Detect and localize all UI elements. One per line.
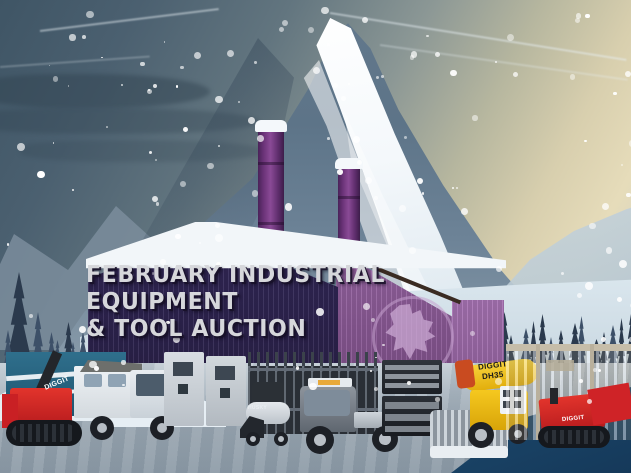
snowflake bbox=[435, 397, 440, 402]
snowflake bbox=[86, 11, 94, 19]
snowflake bbox=[461, 208, 468, 215]
snowflake bbox=[407, 381, 411, 385]
snowflake bbox=[183, 127, 188, 132]
snowflake bbox=[176, 85, 179, 88]
snowflake bbox=[587, 399, 592, 404]
snowflake bbox=[589, 223, 595, 229]
title-line-2: EQUIPMENT bbox=[86, 289, 385, 316]
snowflake bbox=[411, 51, 417, 57]
snowflake bbox=[601, 337, 606, 342]
snowflake bbox=[199, 242, 201, 244]
snowflake bbox=[579, 379, 583, 383]
snowflake bbox=[470, 331, 475, 336]
snowflake bbox=[576, 13, 581, 18]
snowflake bbox=[353, 136, 360, 143]
snowfall-overlay bbox=[0, 0, 631, 473]
snowflake bbox=[399, 205, 405, 211]
snowflake bbox=[593, 368, 597, 372]
snowflake bbox=[149, 151, 152, 154]
snowflake bbox=[450, 70, 456, 76]
snowflake bbox=[584, 140, 586, 142]
snowflake bbox=[215, 223, 220, 228]
snowflake bbox=[417, 178, 423, 184]
snowflake bbox=[357, 160, 362, 165]
snowflake bbox=[613, 92, 617, 96]
snowflake bbox=[472, 115, 477, 120]
snowflake bbox=[337, 169, 343, 175]
snowflake bbox=[496, 266, 502, 272]
snowflake bbox=[426, 35, 429, 38]
snowflake bbox=[153, 84, 157, 88]
snowflake bbox=[561, 272, 565, 276]
snowflake bbox=[180, 66, 184, 70]
snowflake bbox=[585, 282, 593, 290]
snowflake bbox=[625, 71, 631, 77]
snowflake bbox=[621, 164, 623, 166]
snowflake bbox=[456, 187, 458, 189]
snowflake bbox=[49, 65, 51, 67]
snowflake bbox=[575, 18, 580, 23]
snowflake bbox=[69, 34, 75, 40]
snowflake bbox=[279, 27, 284, 32]
snowflake bbox=[375, 357, 377, 359]
snowflake bbox=[348, 83, 350, 85]
snowflake bbox=[7, 243, 9, 245]
snowflake bbox=[296, 366, 300, 370]
snowflake bbox=[82, 35, 86, 39]
snowflake bbox=[164, 41, 166, 43]
snowflake bbox=[17, 143, 25, 151]
title-line-1: FEBRUARY INDUSTRIAL bbox=[86, 262, 385, 289]
snowflake bbox=[180, 181, 186, 187]
snowflake bbox=[257, 135, 264, 142]
snowflake bbox=[254, 61, 257, 64]
snowflake bbox=[374, 387, 378, 391]
snowflake bbox=[382, 344, 384, 346]
snowflake bbox=[140, 62, 144, 66]
snowflake bbox=[175, 234, 181, 240]
snowflake bbox=[121, 84, 123, 86]
snowflake bbox=[495, 378, 502, 385]
snowflake bbox=[422, 192, 425, 195]
snowflake bbox=[327, 43, 330, 46]
snowflake bbox=[617, 297, 622, 302]
snowflake bbox=[252, 190, 259, 197]
snowflake bbox=[362, 17, 368, 23]
snowflake bbox=[238, 101, 240, 103]
snowflake bbox=[370, 370, 372, 372]
snowflake bbox=[435, 52, 440, 57]
snowflake bbox=[68, 85, 70, 87]
snowflake bbox=[248, 117, 255, 124]
snowflake bbox=[215, 96, 222, 103]
snowflake bbox=[194, 52, 201, 59]
snowflake bbox=[313, 67, 320, 74]
title-line-3: & TOOL AUCTION bbox=[86, 316, 385, 343]
page-title: FEBRUARY INDUSTRIAL EQUIPMENT & TOOL AUC… bbox=[86, 262, 385, 343]
snowflake bbox=[308, 27, 314, 33]
snowflake bbox=[152, 196, 158, 202]
snowflake bbox=[215, 234, 223, 242]
snowflake bbox=[602, 203, 609, 210]
snowflake bbox=[513, 72, 518, 77]
snowflake bbox=[147, 89, 153, 95]
snowflake bbox=[53, 142, 55, 144]
snowflake bbox=[341, 96, 346, 101]
snowflake bbox=[374, 196, 377, 199]
snowflake bbox=[376, 76, 379, 79]
snowflake bbox=[507, 34, 514, 41]
auction-poster: DIGGIT HUSKY bbox=[0, 0, 631, 473]
snowflake bbox=[495, 61, 497, 63]
snowflake bbox=[72, 189, 74, 191]
snowflake bbox=[207, 163, 214, 170]
snowflake bbox=[94, 366, 99, 371]
snowflake bbox=[29, 314, 33, 318]
snowflake bbox=[155, 159, 157, 161]
snowflake bbox=[218, 145, 220, 147]
snowflake bbox=[381, 75, 384, 78]
snowflake bbox=[626, 193, 631, 198]
snowflake bbox=[409, 247, 416, 254]
snowflake bbox=[404, 136, 407, 139]
snowflake bbox=[121, 360, 126, 365]
snowflake bbox=[577, 293, 582, 298]
snowflake bbox=[37, 171, 45, 179]
snowflake bbox=[309, 383, 316, 390]
snowflake bbox=[101, 57, 103, 59]
snowflake bbox=[227, 50, 234, 57]
snowflake bbox=[598, 369, 601, 372]
snowflake bbox=[106, 126, 108, 128]
snowflake bbox=[452, 187, 455, 190]
snowflake bbox=[619, 260, 627, 268]
snowflake bbox=[327, 137, 330, 140]
snowflake bbox=[122, 384, 124, 386]
snowflake bbox=[79, 326, 86, 333]
snowflake bbox=[156, 202, 160, 206]
snowflake bbox=[585, 14, 590, 19]
snowflake bbox=[365, 177, 372, 184]
snowflake bbox=[53, 76, 58, 81]
snowflake bbox=[321, 7, 329, 15]
snowflake bbox=[570, 74, 576, 80]
snowflake bbox=[606, 247, 613, 254]
snowflake bbox=[285, 203, 293, 211]
snowflake bbox=[282, 20, 288, 26]
snowflake bbox=[333, 83, 338, 88]
